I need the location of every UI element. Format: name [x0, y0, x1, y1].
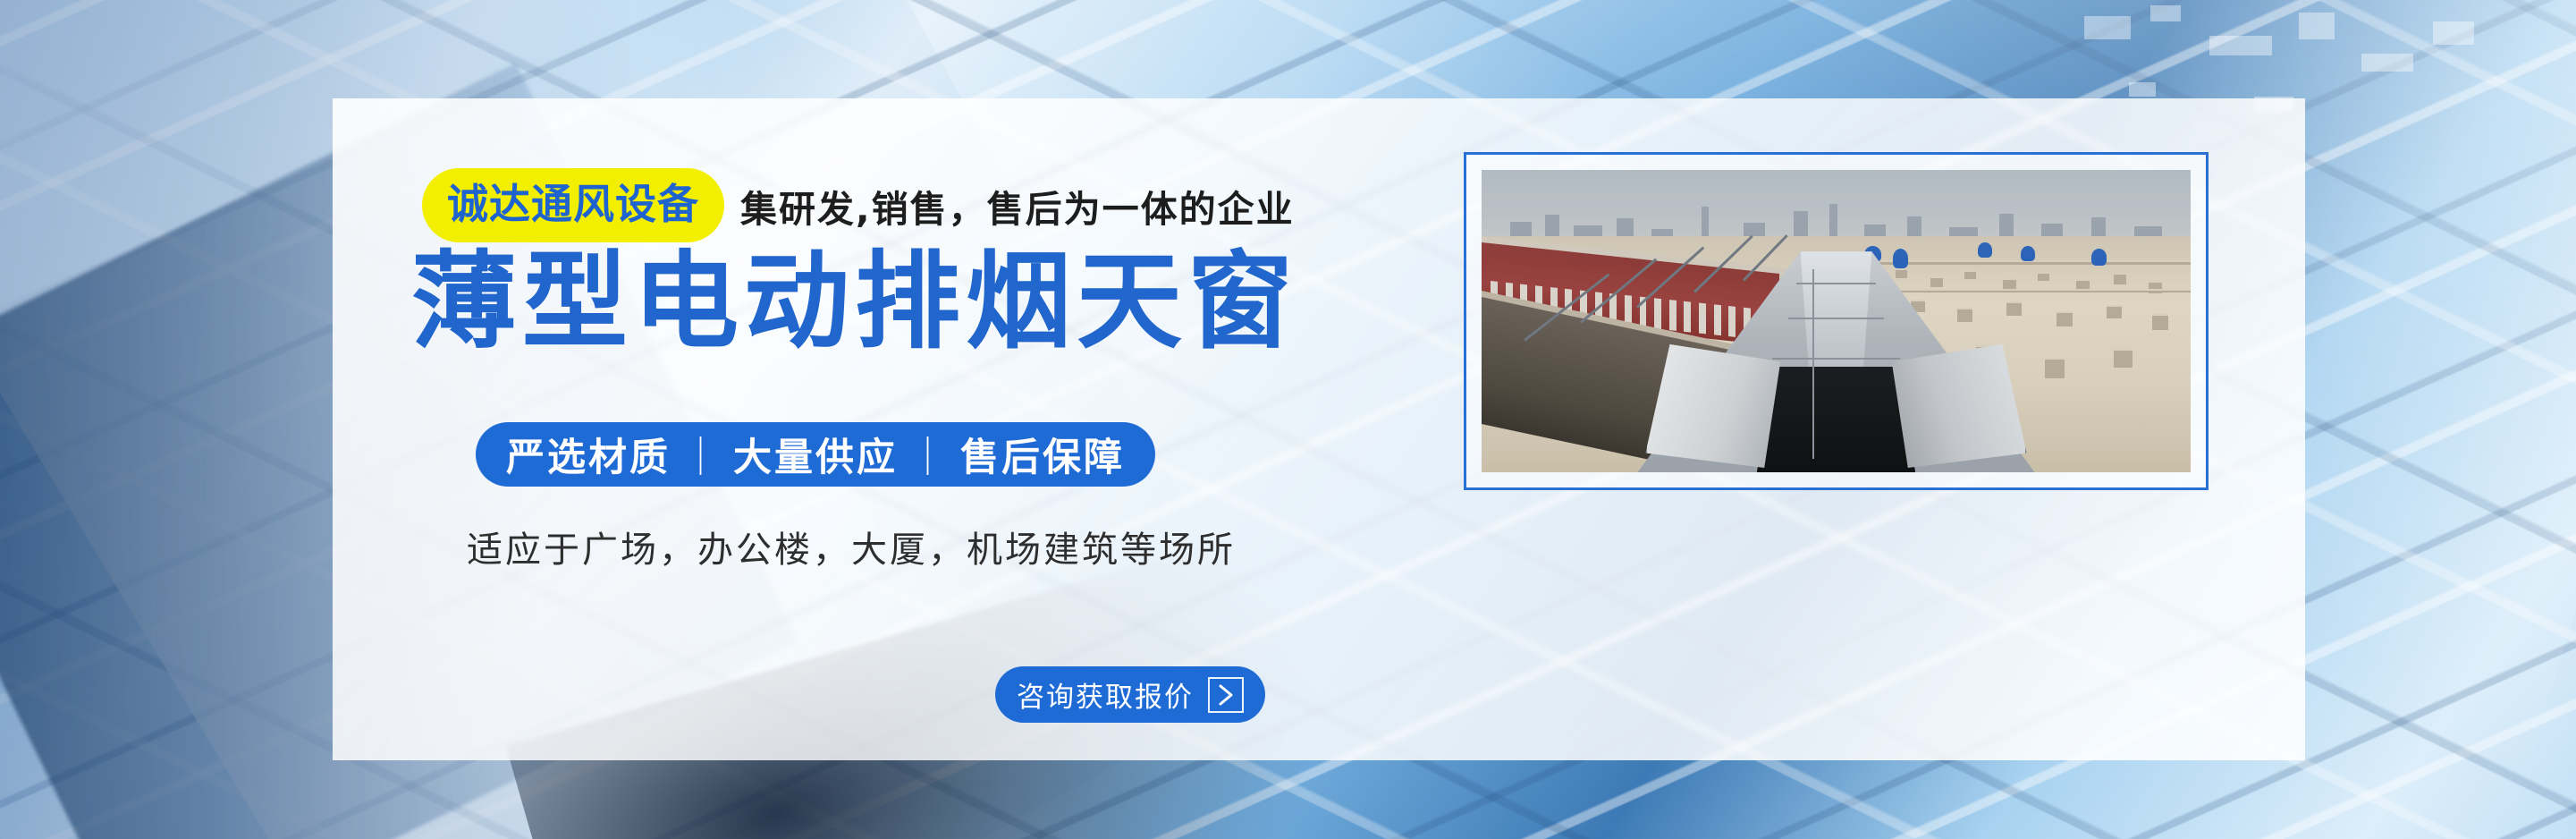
feature-pill: 严选材质 ｜ 大量供应 ｜ 售后保障 [476, 422, 1155, 487]
product-photo [1482, 170, 2191, 472]
eyebrow-row: 诚达通风设备 集研发,销售，售后为一体的企业 [422, 168, 1295, 242]
photo-vent-right-sash [1892, 344, 2027, 468]
tagline-text: 集研发,销售，售后为一体的企业 [740, 179, 1295, 233]
photo-vent-strut-3 [1772, 358, 1899, 360]
feature-item-1: 严选材质 [506, 427, 671, 482]
chevron-right-icon [1208, 677, 1244, 713]
feature-item-2: 大量供应 [733, 427, 898, 482]
photo-vent-left-sash [1645, 344, 1780, 468]
feature-separator-1: ｜ [671, 427, 733, 482]
photo-vent-opening [1757, 367, 1916, 472]
product-photo-frame [1464, 152, 2209, 490]
subtitle-text: 适应于广场，办公楼，大厦，机场建筑等场所 [467, 521, 1236, 572]
photo-vent-strut-1 [1796, 283, 1876, 284]
cta-quote-button[interactable]: 咨询获取报价 [995, 666, 1265, 723]
text-column: 诚达通风设备 集研发,销售，售后为一体的企业 薄型电动排烟天窗 严选材质 ｜ 大… [333, 98, 1459, 760]
photo-vent-strut-2 [1788, 318, 1884, 319]
photo-vent-strut-center [1812, 269, 1814, 459]
page-title: 薄型电动排烟天窗 [411, 249, 1298, 354]
feature-item-3: 售后保障 [960, 427, 1125, 482]
promo-banner: 诚达通风设备 集研发,销售，售后为一体的企业 薄型电动排烟天窗 严选材质 ｜ 大… [0, 0, 2576, 839]
brand-badge: 诚达通风设备 [422, 168, 724, 242]
feature-separator-2: ｜ [898, 427, 960, 482]
photo-blue-vent-5 [2091, 249, 2107, 266]
cta-label: 咨询获取报价 [1017, 674, 1194, 715]
photo-skylight-smoke-vent [1637, 251, 2034, 472]
